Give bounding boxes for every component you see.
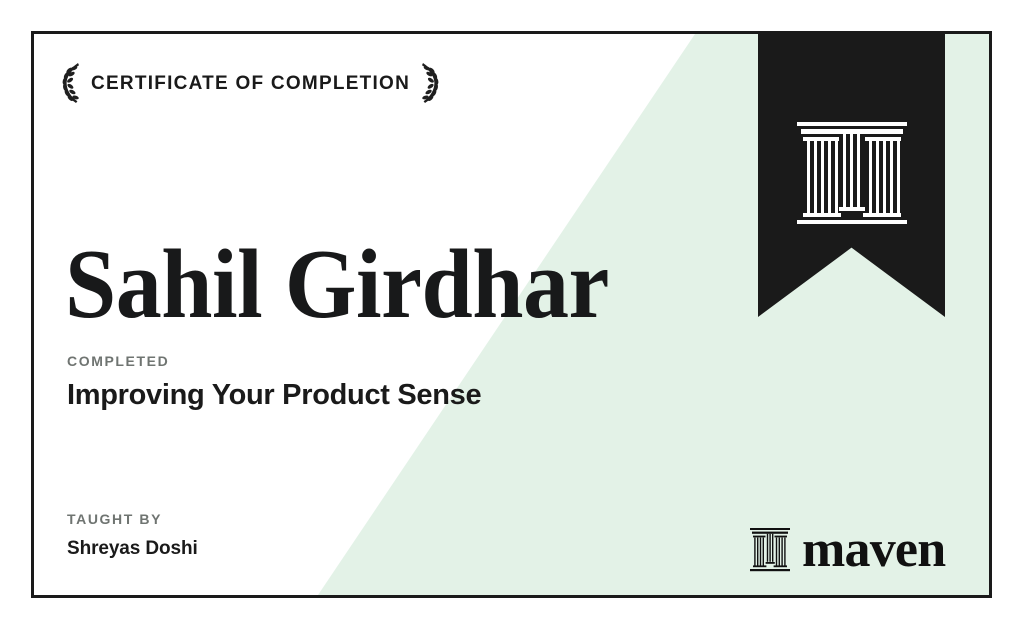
certificate-card-inner: CERTIFICATE OF COMPLETION [34, 34, 989, 595]
certificate-header: CERTIFICATE OF COMPLETION [60, 61, 441, 105]
maven-columns-mark-icon [750, 528, 790, 572]
taught-by-label: TAUGHT BY [67, 512, 198, 526]
completed-section: COMPLETED Improving Your Product Sense [67, 354, 481, 410]
laurel-branch-right-icon [419, 61, 441, 105]
maven-wordmark: maven [802, 524, 945, 576]
taught-by-section: TAUGHT BY Shreyas Doshi [67, 512, 198, 558]
recipient-name: Sahil Girdhar [65, 235, 609, 334]
certificate-page: CERTIFICATE OF COMPLETION [0, 0, 1024, 630]
laurel-branch-left-icon [60, 61, 82, 105]
certificate-header-title: CERTIFICATE OF COMPLETION [91, 74, 410, 93]
course-title: Improving Your Product Sense [67, 381, 481, 410]
maven-columns-emblem-icon [793, 122, 911, 226]
completed-label: COMPLETED [67, 354, 481, 368]
maven-logo: maven [750, 524, 945, 576]
instructor-name: Shreyas Doshi [67, 539, 198, 558]
certificate-card: CERTIFICATE OF COMPLETION [31, 31, 992, 598]
